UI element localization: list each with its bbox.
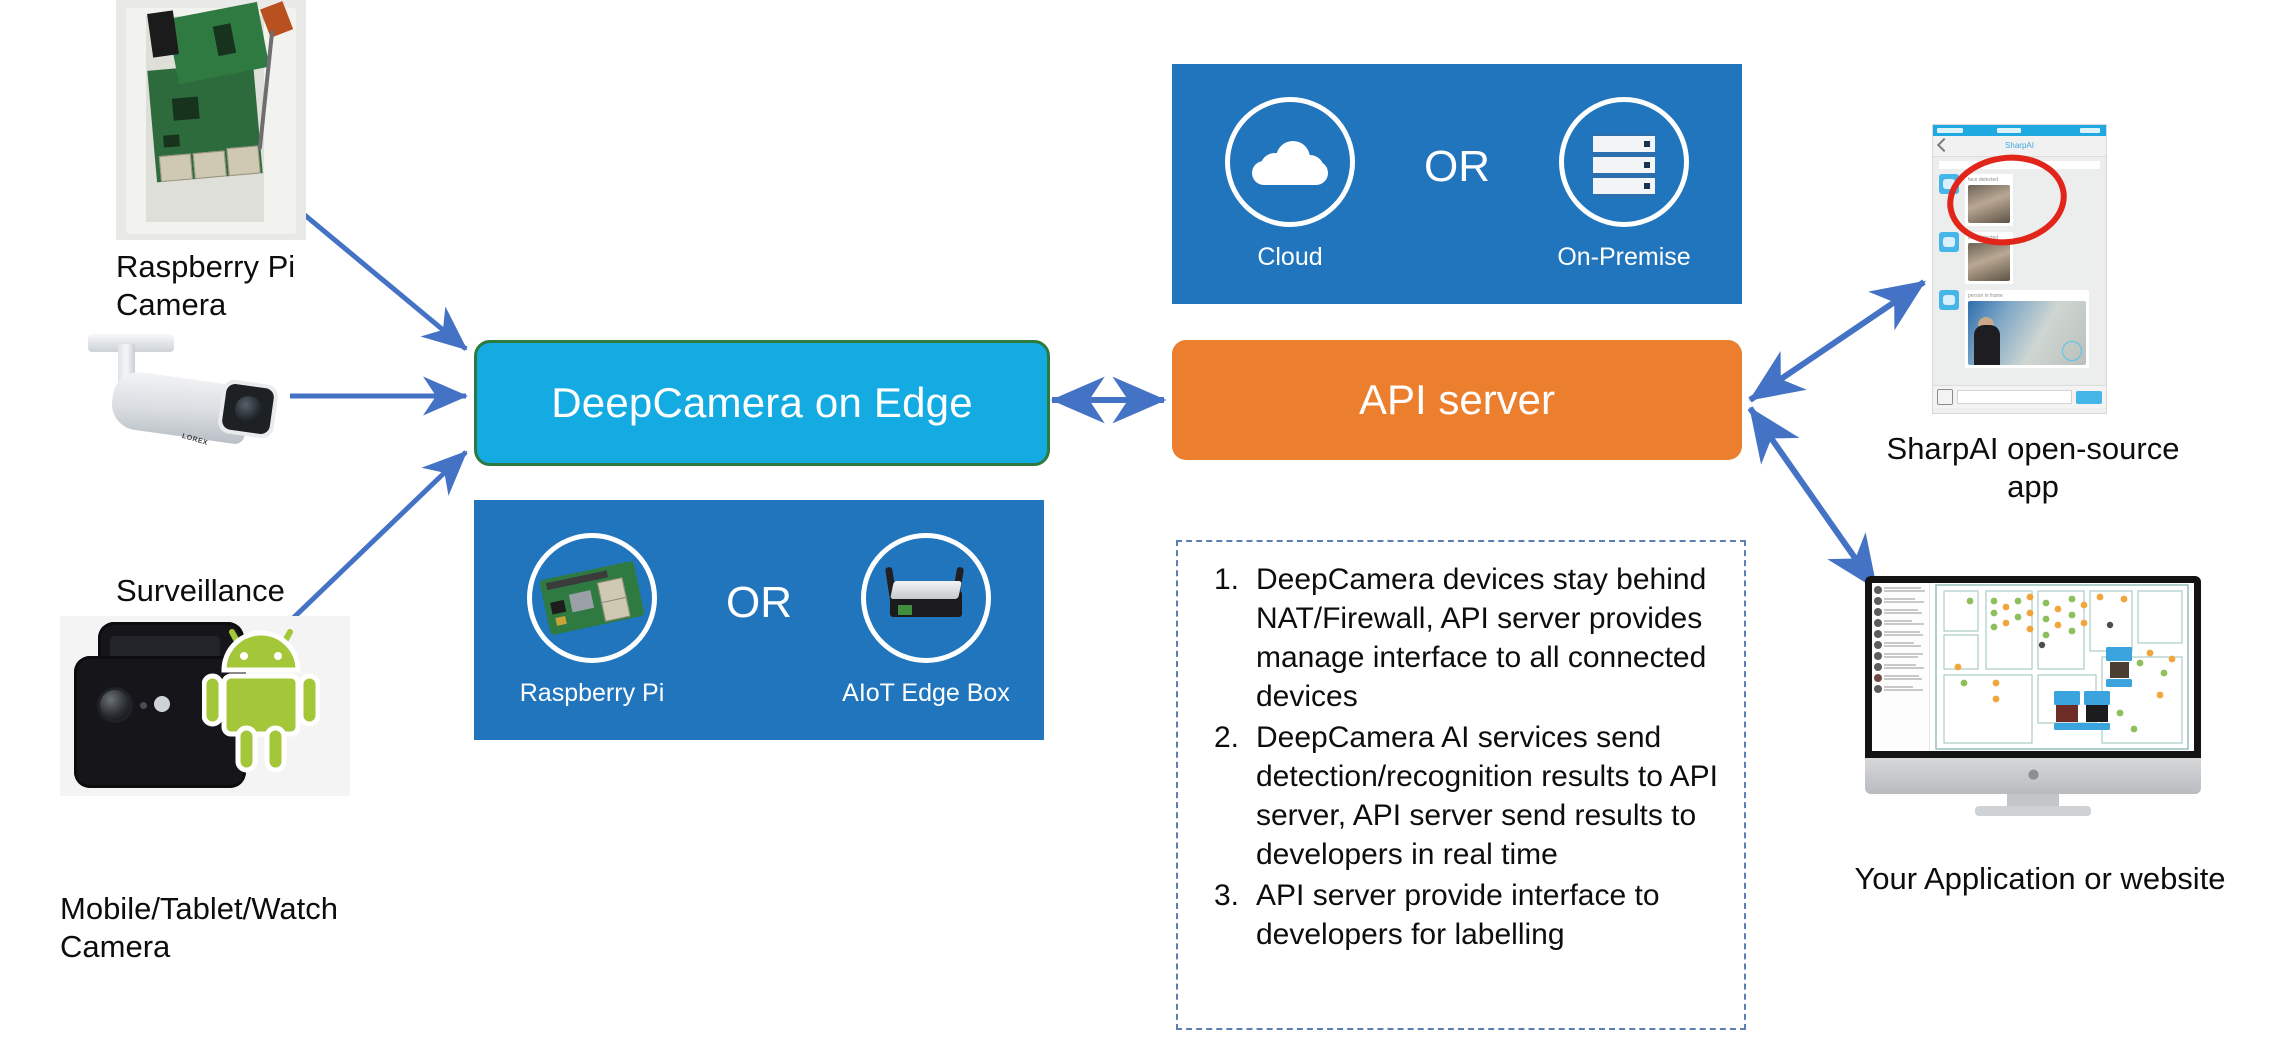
send-button[interactable] xyxy=(2076,391,2102,404)
server-rack-icon xyxy=(1559,97,1689,227)
arrow-api-to-app xyxy=(1750,282,1924,400)
note-number: 3. xyxy=(1194,876,1256,915)
android-robot-icon xyxy=(202,624,320,774)
image-icon[interactable] xyxy=(1937,389,1953,405)
hardware-option-raspberry-pi[interactable]: Raspberry Pi xyxy=(502,533,682,708)
avatar xyxy=(1939,290,1959,310)
note-item: 3. API server provide interface to devel… xyxy=(1194,876,1728,954)
deployment-option-on-premise[interactable]: On-Premise xyxy=(1534,97,1714,272)
deployment-banner: Cloud OR On-Premise xyxy=(1172,64,1742,304)
deepcamera-on-edge-box[interactable]: DeepCamera on Edge xyxy=(474,340,1050,466)
your-application-imac xyxy=(1865,576,2201,816)
note-text: API server provide interface to develope… xyxy=(1256,876,1728,954)
note-item: 2. DeepCamera AI services send detection… xyxy=(1194,718,1728,874)
sharpai-app-caption: SharpAI open-source app xyxy=(1868,430,2198,506)
phone-status-bar xyxy=(1933,125,2106,136)
aiot-edge-box-icon xyxy=(861,533,991,663)
deployment-option-cloud[interactable]: Cloud xyxy=(1200,97,1380,272)
face-thumbnail xyxy=(1968,243,2010,281)
note-item: 1. DeepCamera devices stay behind NAT/Fi… xyxy=(1194,560,1728,716)
mobile-camera-caption: Mobile/Tablet/Watch Camera xyxy=(60,890,490,966)
deepcamera-on-edge-label: DeepCamera on Edge xyxy=(551,379,973,427)
api-server-box[interactable]: API server xyxy=(1172,340,1742,460)
deployment-or-label: OR xyxy=(1424,142,1490,192)
hardware-option-raspberry-pi-label: Raspberry Pi xyxy=(520,679,665,708)
phone-nav-bar: SharpAI xyxy=(1933,136,2106,157)
list-item: person in frame xyxy=(1939,290,2100,368)
phone-nav-title: SharpAI xyxy=(1933,141,2106,150)
edge-hardware-panel: Raspberry Pi OR AIoT Edge Box xyxy=(474,500,1044,740)
note-text: DeepCamera AI services send detection/re… xyxy=(1256,718,1728,874)
avatar xyxy=(1939,232,1959,252)
notes-box: 1. DeepCamera devices stay behind NAT/Fi… xyxy=(1176,540,1746,1030)
hardware-option-aiot-edge-box[interactable]: AIoT Edge Box xyxy=(836,533,1016,708)
phone-input-bar[interactable] xyxy=(1933,385,2106,408)
dashboard-sidebar xyxy=(1872,583,1930,751)
imac-screen xyxy=(1872,583,2194,751)
scene-thumbnail xyxy=(1968,301,2086,365)
note-text: DeepCamera devices stay behind NAT/Firew… xyxy=(1256,560,1728,716)
hardware-option-aiot-edge-box-label: AIoT Edge Box xyxy=(842,679,1010,708)
note-number: 1. xyxy=(1194,560,1256,599)
raspberry-pi-camera-photo xyxy=(116,0,306,240)
apple-logo-icon xyxy=(2027,766,2040,781)
your-application-caption: Your Application or website xyxy=(1840,860,2240,898)
cloud-icon xyxy=(1225,97,1355,227)
arrow-api-to-website xyxy=(1750,408,1876,588)
note-number: 2. xyxy=(1194,718,1256,757)
surveillance-camera-photo: LOREX xyxy=(60,330,290,480)
message-input[interactable] xyxy=(1957,390,2072,404)
api-server-label: API server xyxy=(1359,376,1555,424)
floor-plan-view xyxy=(1930,583,2194,751)
raspberry-pi-camera-caption: Raspberry Pi Camera xyxy=(116,248,376,324)
hardware-or-label: OR xyxy=(726,578,792,628)
deployment-option-cloud-label: Cloud xyxy=(1257,243,1322,272)
deployment-option-on-premise-label: On-Premise xyxy=(1557,243,1690,272)
raspberry-pi-board-icon xyxy=(527,533,657,663)
imac-stand-foot xyxy=(1975,806,2091,816)
mobile-camera-photo: 6:05 xyxy=(60,616,350,796)
